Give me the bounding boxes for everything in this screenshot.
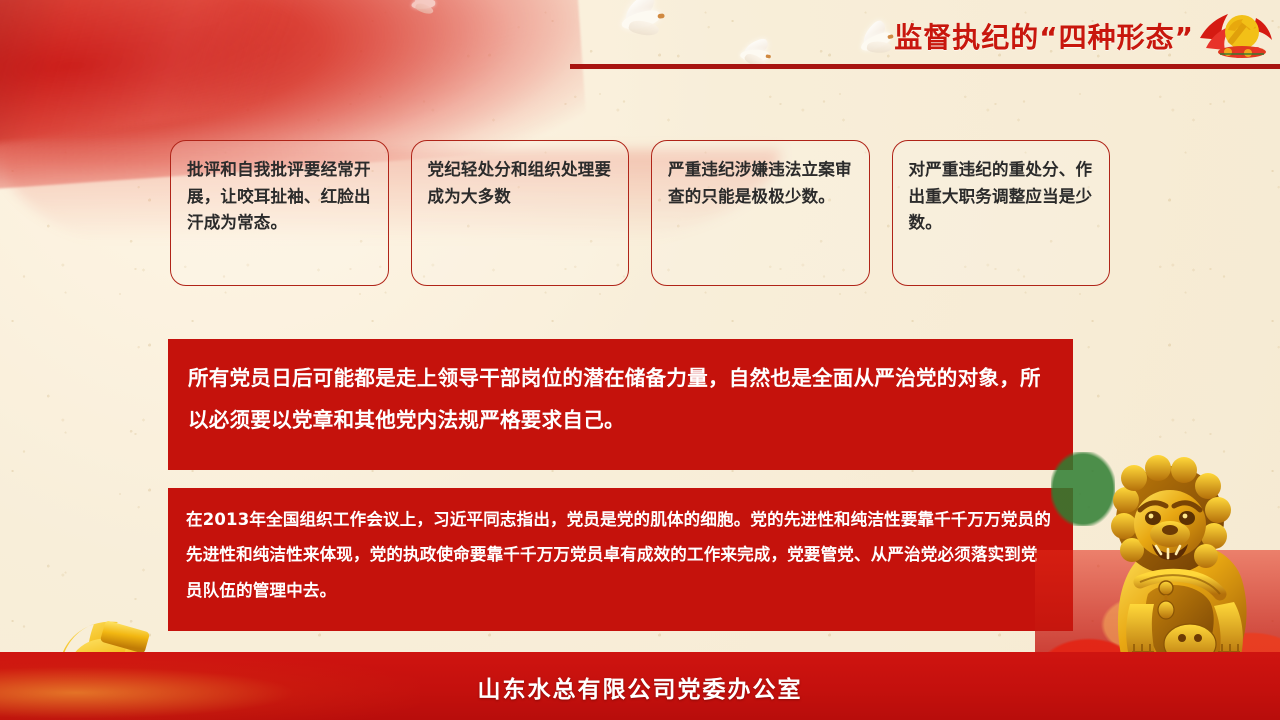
form-card-2-text: 党纪轻处分和组织处理要成为大多数 xyxy=(428,157,615,210)
form-card-4-text: 对严重违纪的重处分、作出重大职务调整应当是少数。 xyxy=(909,157,1096,237)
four-forms-card-group: 批评和自我批评要经常开展，让咬耳扯袖、红脸出汗成为常态。 党纪轻处分和组织处理要… xyxy=(170,140,1110,286)
header-bar: 监督执纪的“四种形态” xyxy=(550,0,1280,68)
header-divider xyxy=(570,64,1280,69)
form-card-3[interactable]: 严重违纪涉嫌违法立案审查的只能是极极少数。 xyxy=(651,140,870,286)
form-card-3-text: 严重违纪涉嫌违法立案审查的只能是极极少数。 xyxy=(668,157,855,210)
footer-organization-name: 山东水总有限公司党委办公室 xyxy=(0,670,1280,704)
page-title: 监督执纪的“四种形态” xyxy=(894,16,1194,56)
statement-block-text: 所有党员日后可能都是走上领导干部岗位的潜在储备力量，自然也是全面从严治党的对象，… xyxy=(188,357,1051,441)
form-card-4[interactable]: 对严重违纪的重处分、作出重大职务调整应当是少数。 xyxy=(892,140,1111,286)
presentation-slide: 监督执纪的“四种形态” xyxy=(0,0,1280,720)
quote-block-text: 在2013年全国组织工作会议上，习近平同志指出，党员是党的肌体的细胞。党的先进性… xyxy=(186,502,1053,608)
footer-bar: 山东水总有限公司党委办公室 xyxy=(0,652,1280,720)
quote-block: 在2013年全国组织工作会议上，习近平同志指出，党员是党的肌体的细胞。党的先进性… xyxy=(168,488,1073,631)
form-card-2[interactable]: 党纪轻处分和组织处理要成为大多数 xyxy=(411,140,630,286)
form-card-1-text: 批评和自我批评要经常开展，让咬耳扯袖、红脸出汗成为常态。 xyxy=(187,157,374,237)
cpc-party-emblem-icon xyxy=(1198,8,1276,62)
statement-block: 所有党员日后可能都是走上领导干部岗位的潜在储备力量，自然也是全面从严治党的对象，… xyxy=(168,339,1073,470)
form-card-1[interactable]: 批评和自我批评要经常开展，让咬耳扯袖、红脸出汗成为常态。 xyxy=(170,140,389,286)
